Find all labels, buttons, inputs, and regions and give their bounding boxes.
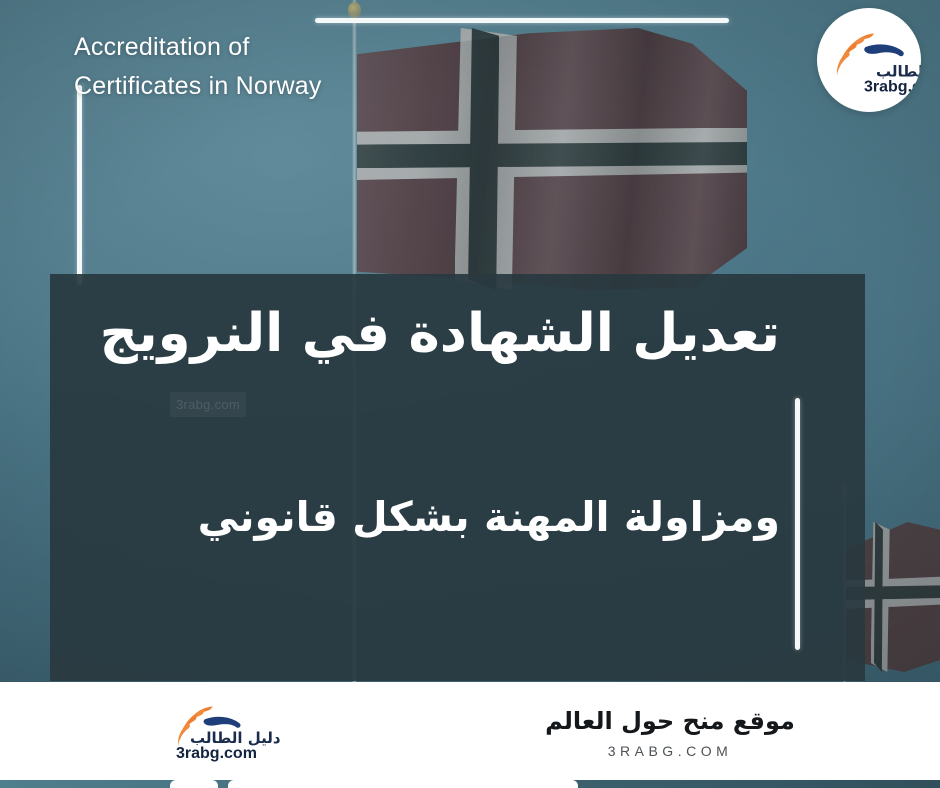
logo-domain: 3rabg.com <box>864 79 921 97</box>
page-title: تعديل الشهادة في النرويج <box>70 296 780 372</box>
eyebrow-title: Accreditation of Certificates in Norway <box>74 28 404 106</box>
watermark-label: 3rabg.com <box>170 392 246 417</box>
decor-rule-right <box>795 398 800 650</box>
logo-blue-swoosh <box>206 719 238 725</box>
decor-rule-top <box>315 18 729 23</box>
footer-tagline: موقع منح حول العالم <box>470 704 870 738</box>
footer-strip-gap-left <box>170 780 218 788</box>
brand-badge[interactable]: دليل الطالب 3rabg.com <box>817 8 921 112</box>
footer-notch-center <box>470 682 590 696</box>
footer-text-block: موقع منح حول العالم 3RABG.COM <box>470 704 870 759</box>
poster-canvas: Accreditation of Certificates in Norway … <box>0 0 940 788</box>
decor-rule-left <box>77 85 82 285</box>
footer-url: 3RABG.COM <box>470 743 870 759</box>
logo-orange-swoosh-group <box>837 34 874 76</box>
brand-logo-icon: دليل الطالب 3rabg.com <box>826 27 912 94</box>
logo-blue-swoosh <box>867 47 901 53</box>
footer-brand-logo[interactable]: دليل الطالب 3rabg.com <box>150 700 270 766</box>
footer-notch-left <box>148 682 268 696</box>
footer-strip-gap-center <box>228 780 578 788</box>
footer-logo-domain: 3rabg.com <box>176 745 257 763</box>
page-subtitle: ومزاولة المهنة بشكل قانوني <box>70 487 780 547</box>
